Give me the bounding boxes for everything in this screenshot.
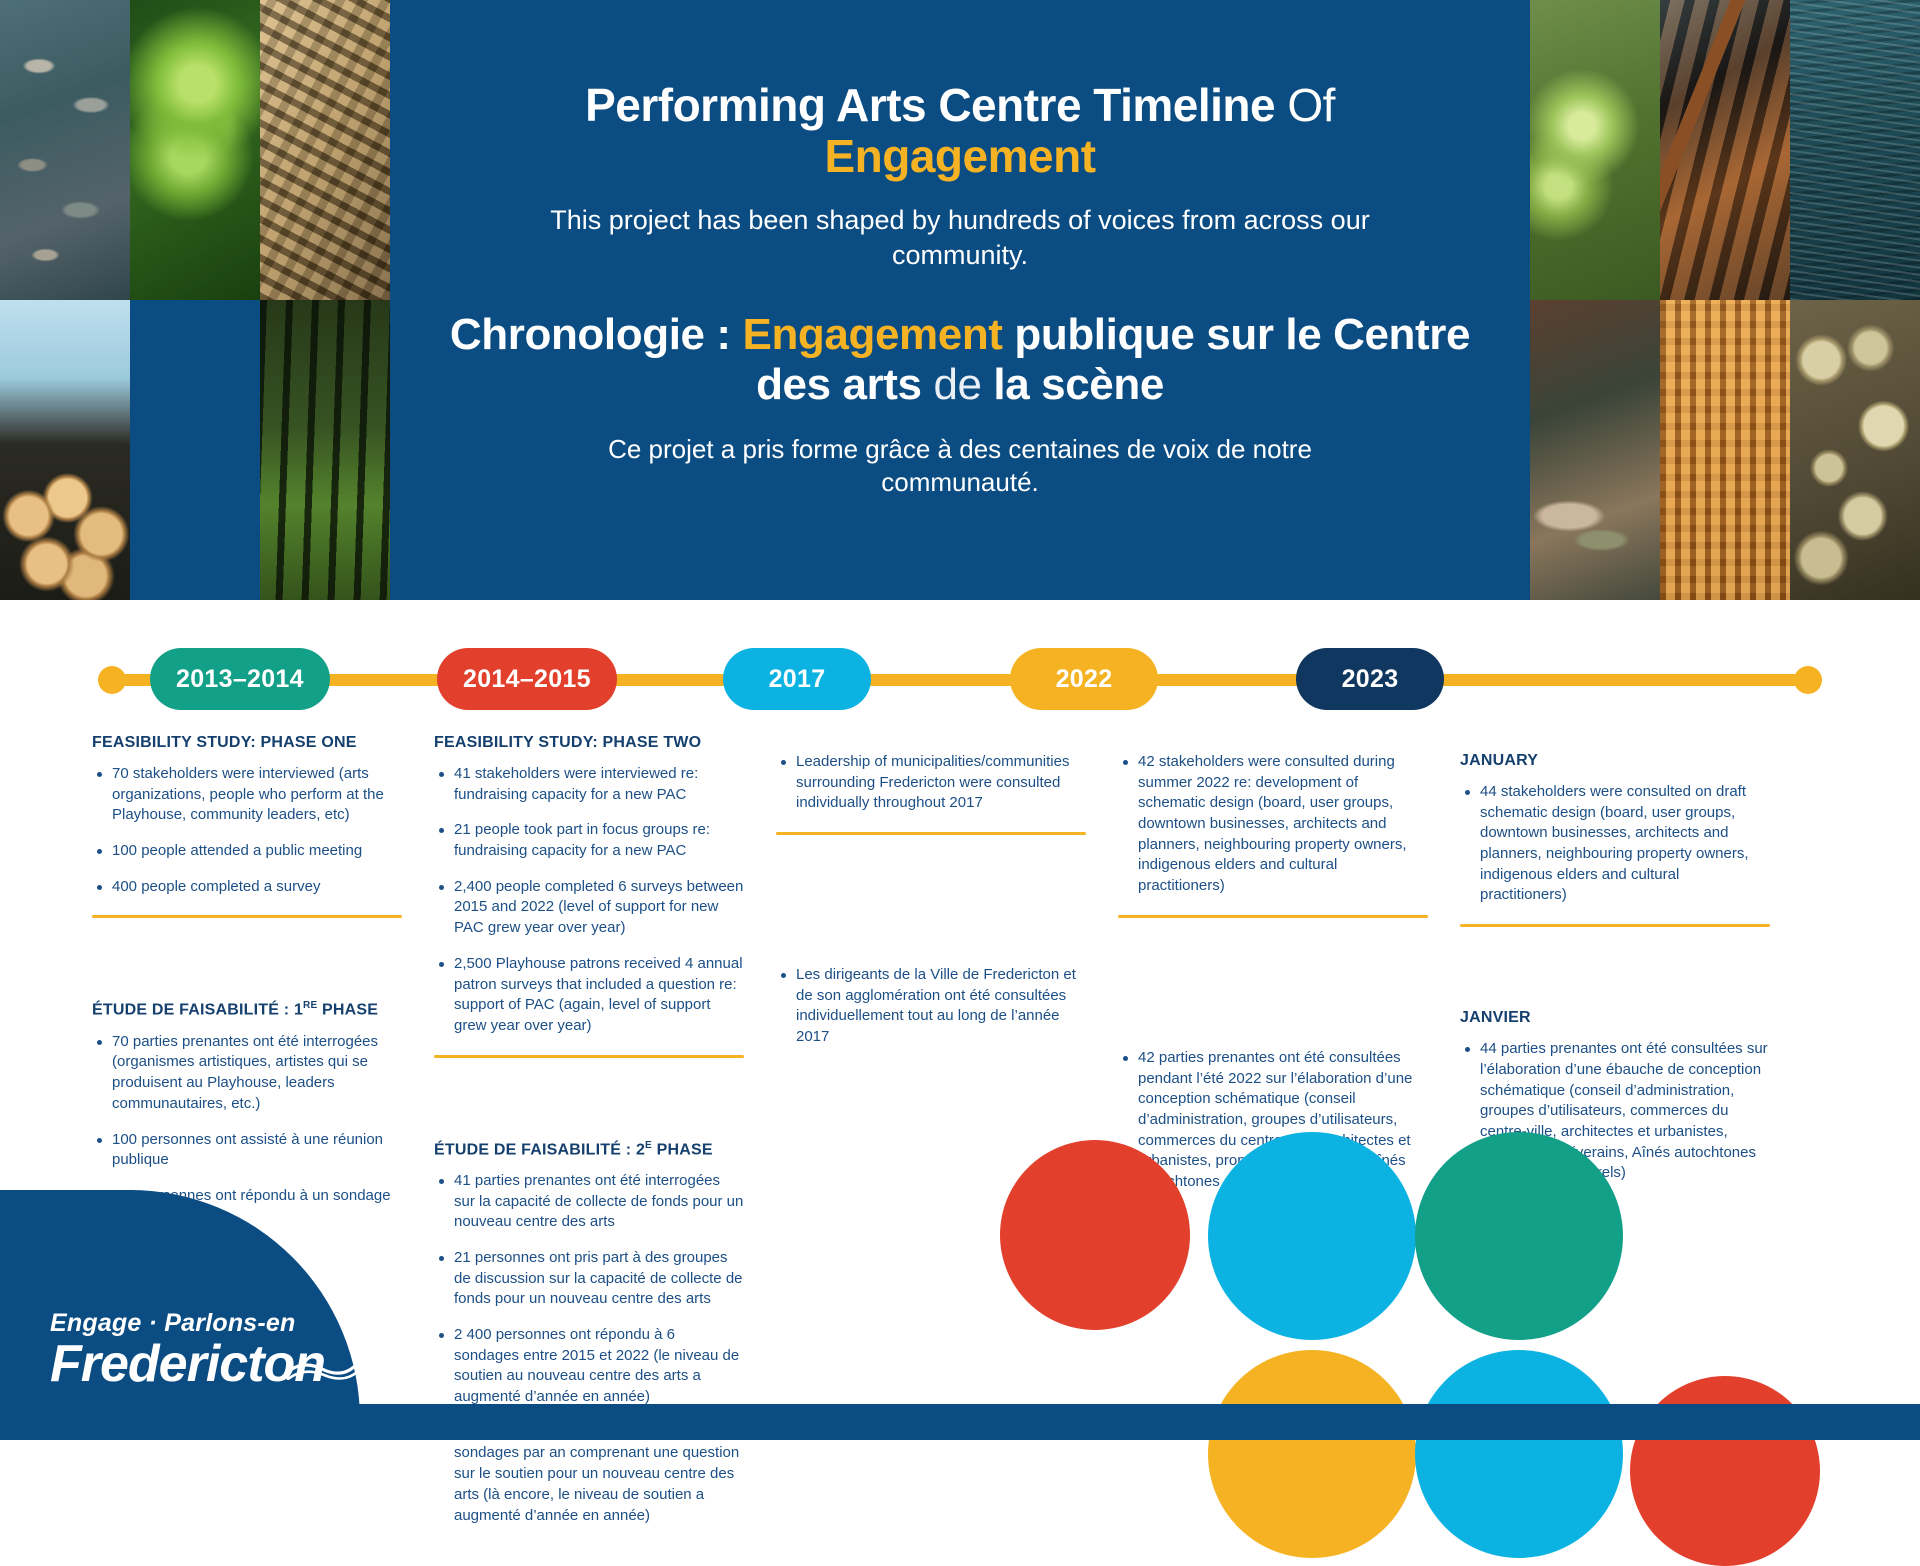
bullet-item: 100 people attended a public meeting	[92, 841, 402, 862]
bullet-item: 21 personnes ont pris part à des groupes…	[434, 1248, 744, 1310]
photo-strip-right	[1530, 0, 1920, 600]
vertical-spacer	[434, 1084, 744, 1140]
title-fr-part1: Chronologie :	[450, 310, 743, 359]
wave-icon	[284, 1360, 358, 1380]
decorative-circle-1	[1000, 1140, 1190, 1330]
bullet-list-english: 70 stakeholders were interviewed (arts o…	[92, 764, 402, 897]
photo-column-3	[260, 0, 390, 600]
photo-wood-lattice	[260, 0, 390, 300]
vertical-spacer	[1118, 944, 1428, 1048]
header-text-block: Performing Arts Centre Timeline Of Engag…	[390, 0, 1530, 600]
decorative-circles	[1000, 1140, 1920, 1440]
timeline-node-label: 2013–2014	[176, 665, 304, 694]
timeline-node-label: 2017	[769, 665, 826, 694]
page-title-french: Chronologie : Engagement publique sur le…	[445, 310, 1475, 410]
photo-canoe	[1660, 0, 1790, 300]
vertical-spacer	[92, 944, 402, 1000]
photo-fern-shoot	[1530, 0, 1660, 300]
bullet-item: 42 stakeholders were consulted during su…	[1118, 752, 1428, 897]
photo-river-water	[1790, 0, 1920, 300]
timeline-node-2014-2015[interactable]: 2014–2015	[437, 648, 617, 710]
bullet-item: 44 stakeholders were consulted on draft …	[1460, 782, 1770, 906]
bullet-item: Les dirigeants de la Ville de Fredericto…	[776, 965, 1086, 1048]
photo-column-4	[1530, 0, 1660, 600]
content-column-4: 42 stakeholders were consulted during su…	[1118, 734, 1428, 1208]
column-heading-french: JANVIER	[1460, 1009, 1770, 1027]
bullet-item: 70 stakeholders were interviewed (arts o…	[92, 764, 402, 826]
section-divider	[92, 915, 402, 918]
title-fr-light: de	[933, 360, 981, 409]
bullet-list-french: 70 parties prenantes ont été interrogées…	[92, 1032, 402, 1207]
ordinal-suffix: e	[645, 1140, 652, 1151]
vertical-spacer	[1460, 953, 1770, 1009]
photo-column-5	[1660, 0, 1790, 600]
title-en-main: Performing Arts Centre Timeline	[585, 79, 1275, 131]
timeline-node-group: 2013–20142014–2015201720222023	[0, 608, 1920, 728]
photo-column-1	[0, 0, 130, 600]
logo-wordmark: Fredericton	[50, 1334, 360, 1394]
subtitle-english: This project has been shaped by hundreds…	[530, 203, 1390, 272]
photo-rocks-stream	[0, 0, 130, 300]
section-divider	[1118, 915, 1428, 918]
photo-fiddlehead	[130, 0, 260, 300]
bullet-list-english: Leadership of municipalities/communities…	[776, 752, 1086, 814]
title-fr-part3: la scène	[982, 360, 1164, 409]
timeline-node-label: 2023	[1342, 665, 1399, 694]
bullet-item: 2,500 Playhouse patrons received 4 annua…	[434, 954, 744, 1037]
timeline-node-label: 2014–2015	[463, 665, 591, 694]
column-heading-english: JANUARY	[1460, 752, 1770, 770]
bullet-item: 100 personnes ont assisté à une réunion …	[92, 1130, 402, 1171]
bullet-list-english: 44 stakeholders were consulted on draft …	[1460, 782, 1770, 906]
timeline-node-2022[interactable]: 2022	[1010, 648, 1158, 710]
section-divider	[1460, 924, 1770, 927]
bullet-item: Leadership of municipalities/communities…	[776, 752, 1086, 814]
content-column-1: FEASIBILITY STUDY: PHASE ONE70 stakehold…	[92, 734, 402, 1222]
photo-hand-fish	[1530, 300, 1660, 600]
bullet-item: 2,400 people completed 6 surveys between…	[434, 877, 744, 939]
photo-log-ends	[0, 300, 130, 600]
title-en-of: Of	[1275, 79, 1335, 131]
bullet-list-english: 41 stakeholders were interviewed re: fun…	[434, 764, 744, 1037]
photo-woven-basket	[1660, 300, 1790, 600]
column-heading-english: FEASIBILITY STUDY: PHASE TWO	[434, 734, 744, 752]
photo-strip-left	[0, 0, 390, 600]
section-divider	[434, 1055, 744, 1058]
column-heading-french: ÉTUDE DE FAISABILITÉ : 1re PHASE	[92, 1000, 402, 1019]
photo-column-6	[1790, 0, 1920, 600]
decorative-circle-3	[1415, 1132, 1623, 1340]
bullet-item: 41 parties prenantes ont été interrogées…	[434, 1171, 744, 1233]
content-column-5: JANUARY44 stakeholders were consulted on…	[1460, 734, 1770, 1199]
bullet-list-french: 41 parties prenantes ont été interrogées…	[434, 1171, 744, 1526]
timeline-node-2017[interactable]: 2017	[723, 648, 871, 710]
photo-wood-stack	[130, 300, 260, 600]
content-column-3: Leadership of municipalities/communities…	[776, 734, 1086, 1063]
photo-column-2	[130, 0, 260, 600]
page-title-english: Performing Arts Centre Timeline Of Engag…	[585, 80, 1335, 181]
ordinal-suffix: re	[303, 1000, 317, 1011]
subtitle-french: Ce projet a pris forme grâce à des centa…	[530, 433, 1390, 500]
column-heading-english: FEASIBILITY STUDY: PHASE ONE	[92, 734, 402, 752]
bullet-item: 41 stakeholders were interviewed re: fun…	[434, 764, 744, 805]
timeline-axis: 2013–20142014–2015201720222023	[0, 608, 1920, 728]
bullet-list-english: 42 stakeholders were consulted during su…	[1118, 752, 1428, 897]
bullet-list-french: Les dirigeants de la Ville de Fredericto…	[776, 965, 1086, 1048]
decorative-circle-5	[1415, 1350, 1623, 1558]
bullet-item: 70 parties prenantes ont été interrogées…	[92, 1032, 402, 1115]
timeline-node-label: 2022	[1056, 665, 1113, 694]
timeline-node-2013-2014[interactable]: 2013–2014	[150, 648, 330, 710]
decorative-circle-2	[1208, 1132, 1416, 1340]
timeline-node-2023[interactable]: 2023	[1296, 648, 1444, 710]
bullet-item: 21 people took part in focus groups re: …	[434, 820, 744, 861]
title-fr-accent: Engagement	[743, 310, 1003, 359]
column-heading-french: ÉTUDE DE FAISABILITÉ : 2e PHASE	[434, 1140, 744, 1159]
section-divider	[776, 832, 1086, 835]
photo-forest-floor	[260, 300, 390, 600]
title-en-accent: Engagement	[824, 130, 1095, 182]
bullet-item: 2 400 personnes ont répondu à 6 sondages…	[434, 1325, 744, 1408]
decorative-circle-4	[1208, 1350, 1416, 1558]
bullet-item: 400 people completed a survey	[92, 877, 402, 898]
photo-log-pile	[1790, 300, 1920, 600]
header-banner: Performing Arts Centre Timeline Of Engag…	[0, 0, 1920, 600]
vertical-spacer	[776, 861, 1086, 965]
